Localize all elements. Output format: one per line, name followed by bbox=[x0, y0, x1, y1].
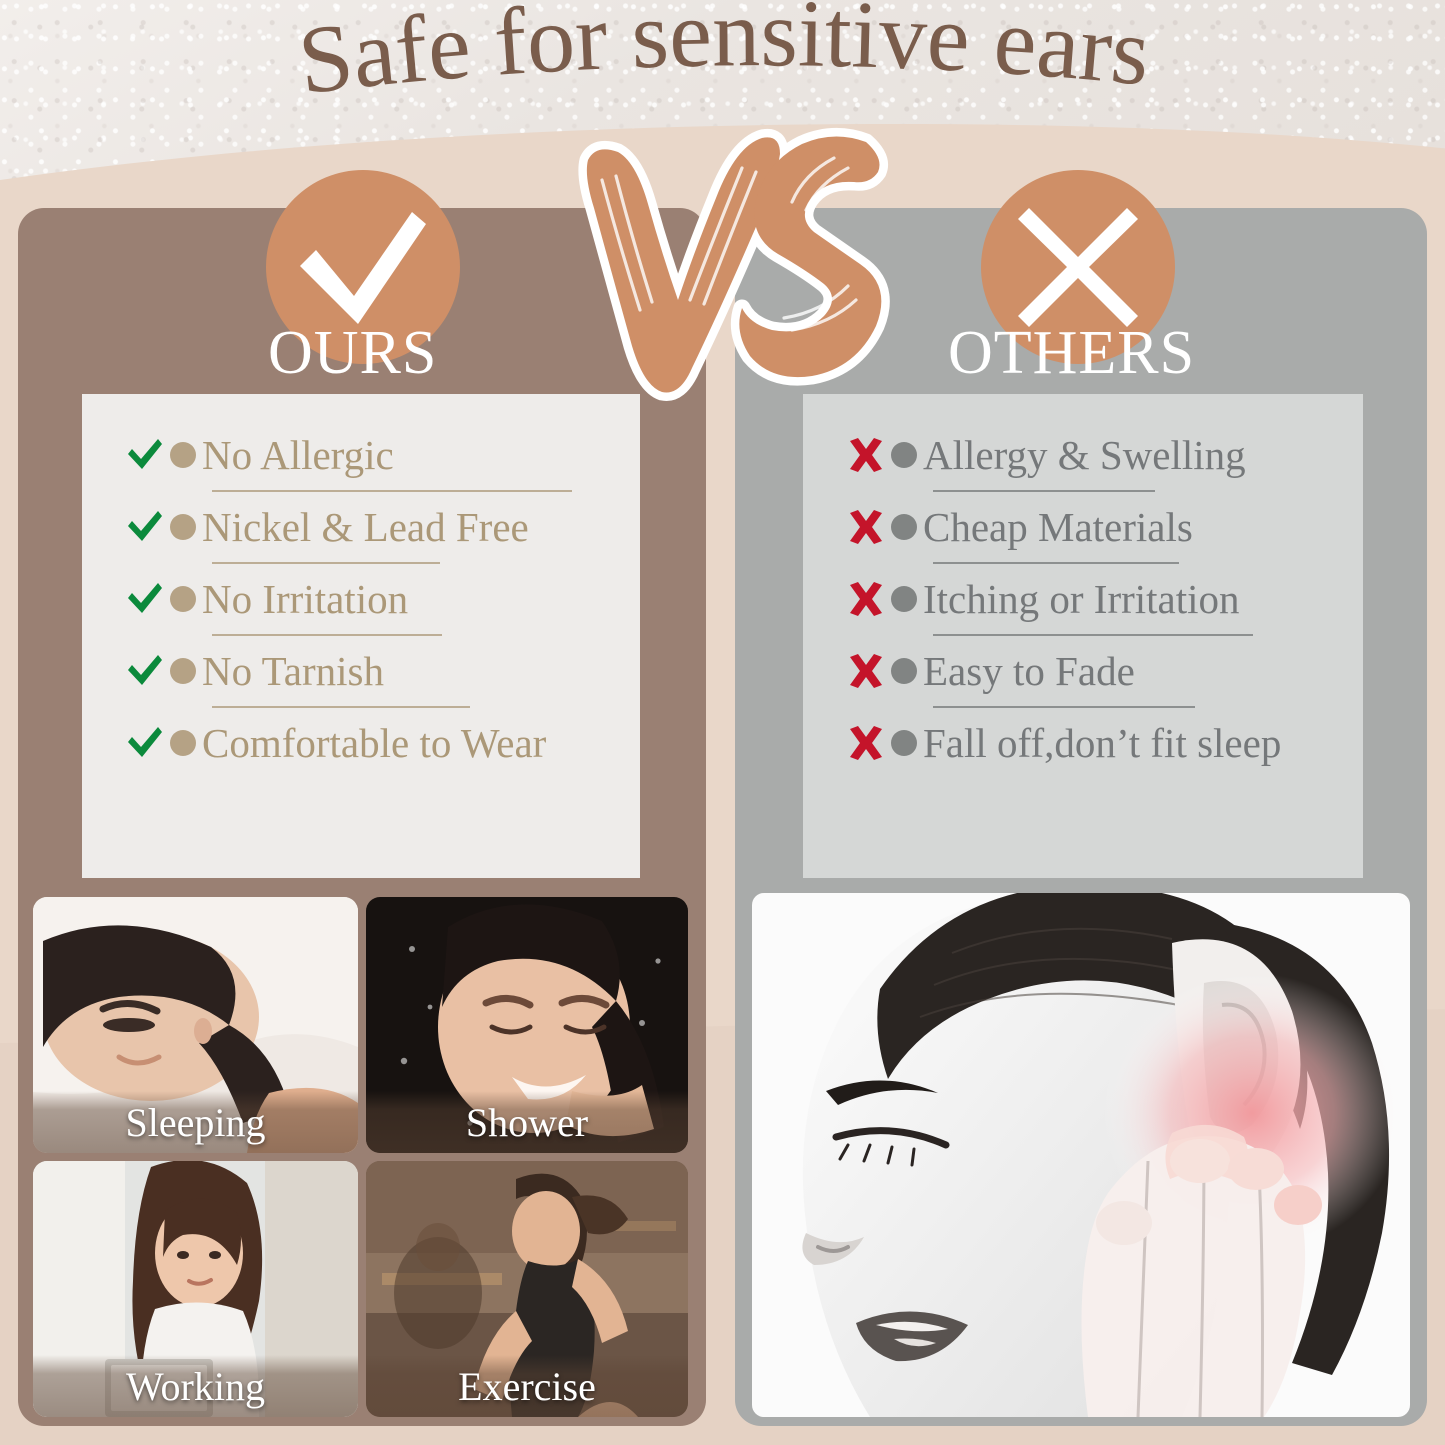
list-item-label: Itching or Irritation bbox=[923, 575, 1240, 623]
cross-icon bbox=[847, 726, 891, 760]
bullet-dot bbox=[170, 586, 196, 612]
photo-tile-sleeping: Sleeping bbox=[33, 897, 358, 1153]
bullet-dot bbox=[170, 514, 196, 540]
photo-tile-ear-pain bbox=[752, 893, 1410, 1417]
list-item: Comfortable to Wear bbox=[82, 708, 640, 778]
cross-icon bbox=[847, 654, 891, 688]
feature-list-others: Allergy & Swelling Cheap Materials Itchi… bbox=[803, 394, 1363, 878]
photo-ear-pain bbox=[752, 893, 1410, 1417]
photo-caption: Exercise bbox=[366, 1355, 688, 1417]
cross-icon bbox=[847, 438, 891, 472]
photo-caption: Sleeping bbox=[33, 1091, 358, 1153]
bullet-dot bbox=[891, 658, 917, 684]
photo-tile-working: Working bbox=[33, 1161, 358, 1417]
list-item: Allergy & Swelling bbox=[803, 420, 1363, 490]
list-item-label: No Irritation bbox=[202, 575, 408, 623]
list-item: Itching or Irritation bbox=[803, 564, 1363, 634]
photo-tile-shower: Shower bbox=[366, 897, 688, 1153]
list-item: Easy to Fade bbox=[803, 636, 1363, 706]
list-item-label: Allergy & Swelling bbox=[923, 431, 1246, 479]
cross-icon bbox=[847, 582, 891, 616]
cross-icon bbox=[847, 510, 891, 544]
list-item-label: Cheap Materials bbox=[923, 503, 1193, 551]
panel-title-others: OTHERS bbox=[948, 318, 1195, 389]
list-item-label: No Tarnish bbox=[202, 647, 384, 695]
bullet-dot bbox=[170, 442, 196, 468]
bullet-dot bbox=[170, 658, 196, 684]
bullet-dot bbox=[891, 730, 917, 756]
list-item-label: Nickel & Lead Free bbox=[202, 503, 529, 551]
vs-badge bbox=[566, 124, 896, 416]
list-item: No Irritation bbox=[82, 564, 640, 634]
vs-brush-icon bbox=[566, 124, 896, 416]
product-comparison-poster: Safe for sensitive ears OURS No Allergic… bbox=[0, 0, 1445, 1445]
list-item: Nickel & Lead Free bbox=[82, 492, 640, 562]
check-icon bbox=[126, 654, 170, 688]
bullet-dot bbox=[891, 514, 917, 540]
list-item: No Tarnish bbox=[82, 636, 640, 706]
list-item: Fall off,don’t fit sleep bbox=[803, 708, 1363, 778]
list-item-label: No Allergic bbox=[202, 431, 394, 479]
list-item: No Allergic bbox=[82, 420, 640, 490]
check-icon bbox=[126, 582, 170, 616]
list-item: Cheap Materials bbox=[803, 492, 1363, 562]
list-item-label: Fall off,don’t fit sleep bbox=[923, 719, 1281, 767]
check-icon bbox=[126, 726, 170, 760]
panel-title-ours: OURS bbox=[268, 318, 437, 389]
photo-caption: Working bbox=[33, 1355, 358, 1417]
bullet-dot bbox=[891, 586, 917, 612]
list-item-label: Easy to Fade bbox=[923, 647, 1135, 695]
bullet-dot bbox=[170, 730, 196, 756]
check-icon bbox=[126, 438, 170, 472]
photo-tile-exercise: Exercise bbox=[366, 1161, 688, 1417]
bullet-dot bbox=[891, 442, 917, 468]
feature-list-ours: No Allergic Nickel & Lead Free No Irrita… bbox=[82, 394, 640, 878]
check-icon bbox=[126, 510, 170, 544]
list-item-label: Comfortable to Wear bbox=[202, 719, 546, 767]
photo-caption: Shower bbox=[366, 1091, 688, 1153]
